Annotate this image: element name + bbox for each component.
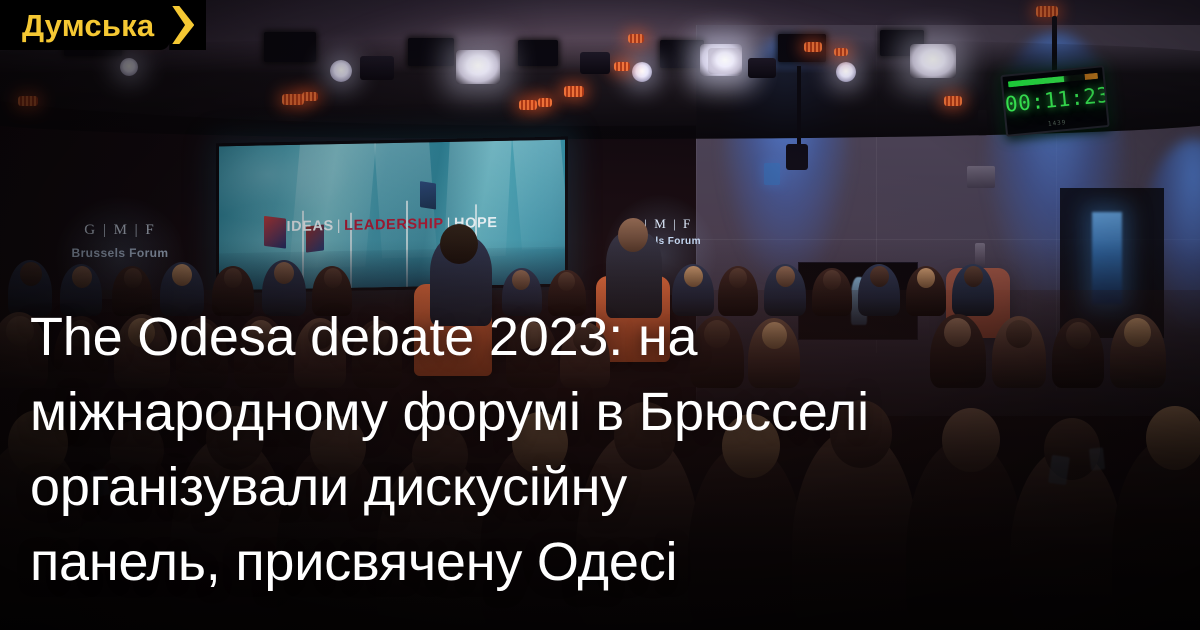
share-card: 00:11:23 1439 G | M | F Brussels Forum G… (0, 0, 1200, 630)
chevron-right-icon (170, 0, 206, 50)
title-line-2: міжнародному форумі в Брюсселі (30, 375, 1030, 450)
page-title: The Odesa debate 2023: на міжнародному ф… (30, 300, 1030, 600)
logo-wordmark: Думська (22, 10, 154, 41)
title-line-3: організували дискусійну (30, 450, 1030, 525)
logo-plate: Думська (0, 0, 170, 50)
title-line-1: The Odesa debate 2023: на (30, 300, 1030, 375)
title-line-4: панель, присвячену Одесі (30, 525, 1030, 600)
site-logo[interactable]: Думська (0, 0, 206, 50)
